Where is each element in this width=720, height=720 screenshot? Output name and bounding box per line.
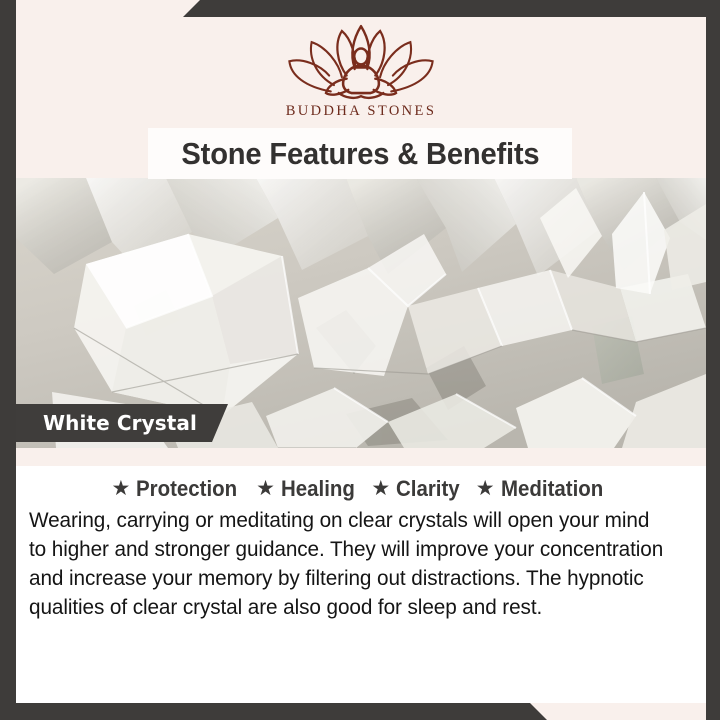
lotus-meditation-figure-icon xyxy=(281,23,441,101)
description-text: Wearing, carrying or meditating on clear… xyxy=(29,506,667,622)
star-icon: ★ xyxy=(111,478,130,499)
body-panel: ★ Protection ★ Healing ★ Clarity ★ Medit… xyxy=(16,448,706,703)
page-title: Stone Features & Benefits xyxy=(181,136,539,172)
benefit-label: Clarity xyxy=(396,476,460,502)
stone-features-card: BUDDHA STONES xyxy=(0,0,720,720)
benefit-item-meditation: ★ Meditation xyxy=(476,476,611,502)
benefit-label: Protection xyxy=(136,476,237,502)
brand-block: BUDDHA STONES xyxy=(16,23,706,120)
frame-left-accent xyxy=(0,0,16,720)
frame-bottom-accent xyxy=(0,703,720,720)
star-icon: ★ xyxy=(371,478,390,499)
benefit-label: Healing xyxy=(281,476,355,502)
benefit-item-clarity: ★ Clarity xyxy=(371,476,464,502)
brand-name: BUDDHA STONES xyxy=(286,103,437,120)
stone-name-text: White Crystal xyxy=(16,411,197,435)
frame-top-accent xyxy=(0,0,720,17)
stone-name-label: White Crystal xyxy=(16,404,228,442)
benefit-label: Meditation xyxy=(501,476,603,502)
star-icon: ★ xyxy=(476,478,495,499)
benefit-item-healing: ★ Healing xyxy=(256,476,360,502)
star-icon: ★ xyxy=(256,478,275,499)
benefit-item-protection: ★ Protection xyxy=(111,476,245,502)
frame-right-accent xyxy=(706,0,720,720)
cream-divider-strip xyxy=(16,448,706,466)
title-banner: Stone Features & Benefits xyxy=(148,128,572,179)
